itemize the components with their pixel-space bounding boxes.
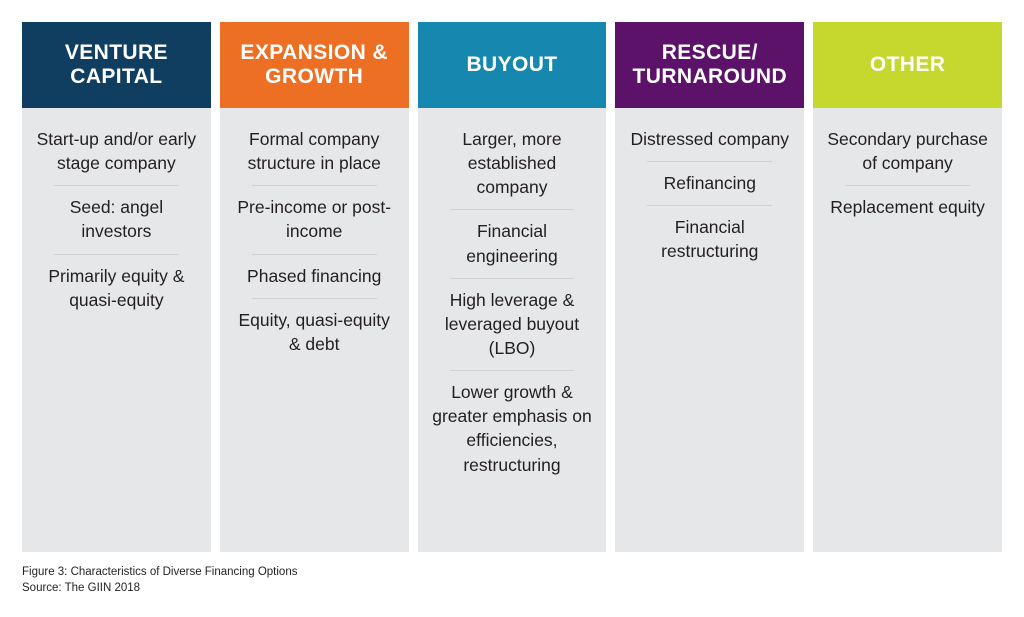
column-title-buyout: BUYOUT	[466, 53, 557, 77]
figure-container: VENTURE CAPITAL Start-up and/or early st…	[0, 0, 1024, 617]
column-body-buyout: Larger, more established company Financi…	[418, 108, 607, 552]
financing-options-table: VENTURE CAPITAL Start-up and/or early st…	[22, 22, 1002, 552]
list-item: Seed: angel investors	[34, 186, 199, 253]
column-body-expansion-growth: Formal company structure in place Pre-in…	[220, 108, 409, 552]
list-item: Financial restructuring	[627, 206, 792, 273]
column-header-venture-capital: VENTURE CAPITAL	[22, 22, 211, 108]
list-item: Distressed company	[627, 124, 792, 161]
list-item: Secondary purchase of company	[825, 124, 990, 185]
list-item: Financial engineering	[430, 210, 595, 277]
caption-source: Source: The GIIN 2018	[22, 580, 297, 596]
list-item: Formal company structure in place	[232, 124, 397, 185]
list-item: Pre-income or post-income	[232, 186, 397, 253]
list-item: Larger, more established company	[430, 124, 595, 209]
figure-caption: Figure 3: Characteristics of Diverse Fin…	[22, 564, 297, 597]
list-item: Start-up and/or early stage company	[34, 124, 199, 185]
column-title-expansion-growth: EXPANSION & GROWTH	[226, 41, 403, 90]
list-item: Replacement equity	[825, 186, 990, 229]
column-other: OTHER Secondary purchase of company Repl…	[813, 22, 1002, 552]
column-venture-capital: VENTURE CAPITAL Start-up and/or early st…	[22, 22, 211, 552]
column-body-other: Secondary purchase of company Replacemen…	[813, 108, 1002, 552]
list-item: Equity, quasi-equity & debt	[232, 299, 397, 366]
column-title-other: OTHER	[870, 53, 946, 77]
list-item: Lower growth & greater emphasis on effic…	[430, 371, 595, 487]
column-body-venture-capital: Start-up and/or early stage company Seed…	[22, 108, 211, 552]
column-header-other: OTHER	[813, 22, 1002, 108]
column-title-rescue-turnaround: RESCUE/ TURNAROUND	[621, 41, 798, 90]
column-header-buyout: BUYOUT	[418, 22, 607, 108]
column-header-expansion-growth: EXPANSION & GROWTH	[220, 22, 409, 108]
column-buyout: BUYOUT Larger, more established company …	[418, 22, 607, 552]
caption-title: Figure 3: Characteristics of Diverse Fin…	[22, 564, 297, 580]
column-rescue-turnaround: RESCUE/ TURNAROUND Distressed company Re…	[615, 22, 804, 552]
column-body-rescue-turnaround: Distressed company Refinancing Financial…	[615, 108, 804, 552]
column-header-rescue-turnaround: RESCUE/ TURNAROUND	[615, 22, 804, 108]
list-item: High leverage & leveraged buyout (LBO)	[430, 279, 595, 370]
list-item: Phased financing	[232, 255, 397, 298]
column-expansion-growth: EXPANSION & GROWTH Formal company struct…	[220, 22, 409, 552]
list-item: Primarily equity & quasi-equity	[34, 255, 199, 322]
column-title-venture-capital: VENTURE CAPITAL	[28, 41, 205, 90]
list-item: Refinancing	[627, 162, 792, 205]
